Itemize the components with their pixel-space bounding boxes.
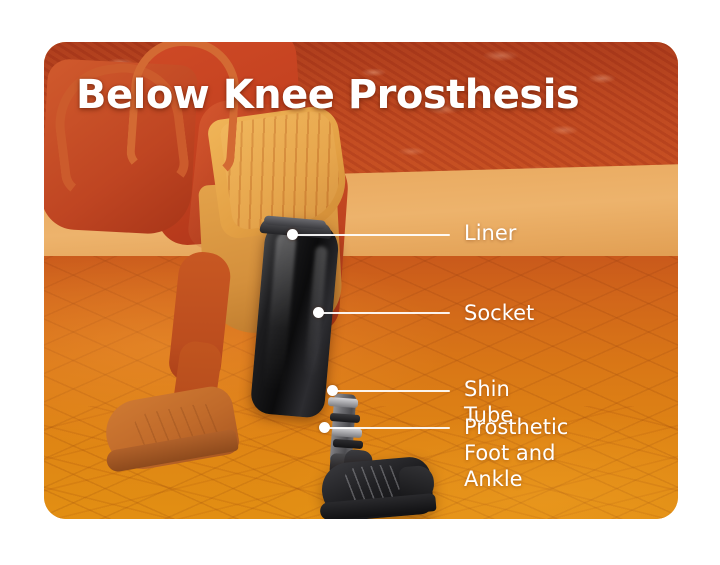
callout-label-prosthetic-foot: Prosthetic Foot and Ankle [464,414,568,492]
callout-line-liner [297,234,450,236]
callout-line-socket [323,312,450,314]
callout-label-socket: Socket [464,300,534,326]
callout-label-liner: Liner [464,220,516,246]
callout-line-prosthetic-foot [329,427,450,429]
pylon-clamp-upper [328,397,359,408]
page-title: Below Knee Prosthesis [76,74,656,116]
infographic-card: Below Knee Prosthesis Liner Socket Shin … [44,42,678,519]
infographic-canvas: Below Knee Prosthesis Liner Socket Shin … [0,0,720,565]
callout-line-shin-tube [337,390,450,392]
